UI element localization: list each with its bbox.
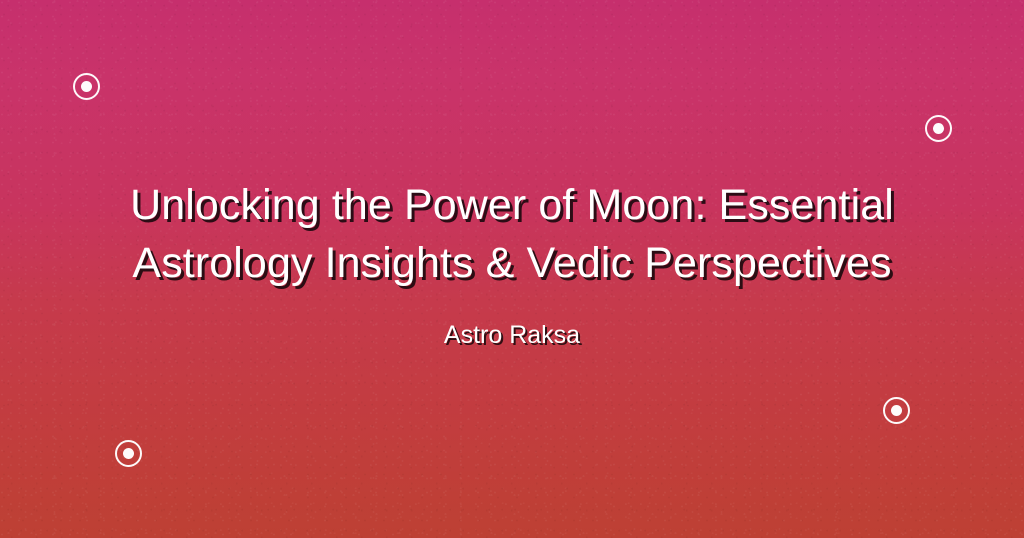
slide-title: Unlocking the Power of Moon: Essential A… [56, 176, 968, 292]
ring-bottom-right-icon [883, 397, 910, 424]
slide-text-block: Unlocking the Power of Moon: Essential A… [0, 176, 1024, 350]
ring-top-left-icon [73, 73, 100, 100]
ring-bottom-left-icon [115, 440, 142, 467]
slide-canvas: Unlocking the Power of Moon: Essential A… [0, 0, 1024, 538]
slide-subtitle: Astro Raksa [56, 320, 968, 350]
ring-top-right-icon [925, 115, 952, 142]
